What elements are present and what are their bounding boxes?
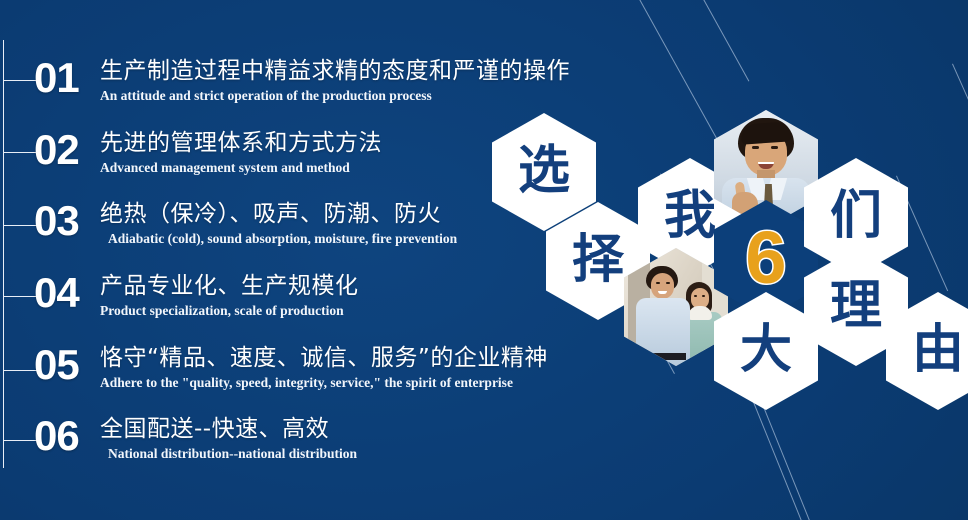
hexagon-headline-cluster: 选 择 我 [0, 0, 968, 520]
promo-banner: 01 生产制造过程中精益求精的态度和严谨的操作 An attitude and … [0, 0, 968, 520]
hex-cell-da: 大 [714, 292, 818, 410]
hex-glyph: 大 [714, 292, 818, 410]
